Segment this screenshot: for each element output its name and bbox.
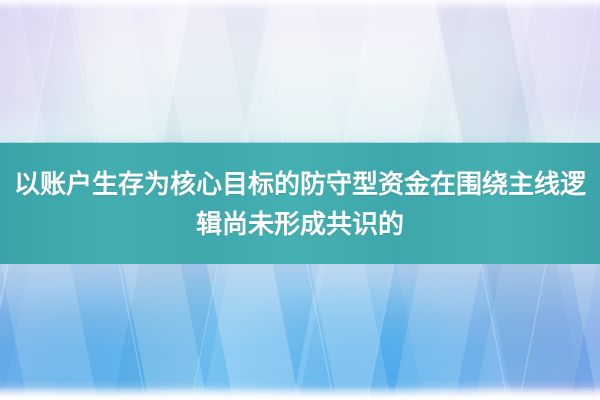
article-cover-banner: 以账户生存为核心目标的防守型资金在围绕主线逻辑尚未形成共识的 (0, 0, 600, 400)
top-fade-overlay (0, 0, 600, 10)
page-title: 以账户生存为核心目标的防守型资金在围绕主线逻辑尚未形成共识的 (2, 164, 598, 244)
headline-container: 以账户生存为核心目标的防守型资金在围绕主线逻辑尚未形成共识的 (0, 143, 600, 264)
bottom-fade-overlay (0, 386, 600, 400)
